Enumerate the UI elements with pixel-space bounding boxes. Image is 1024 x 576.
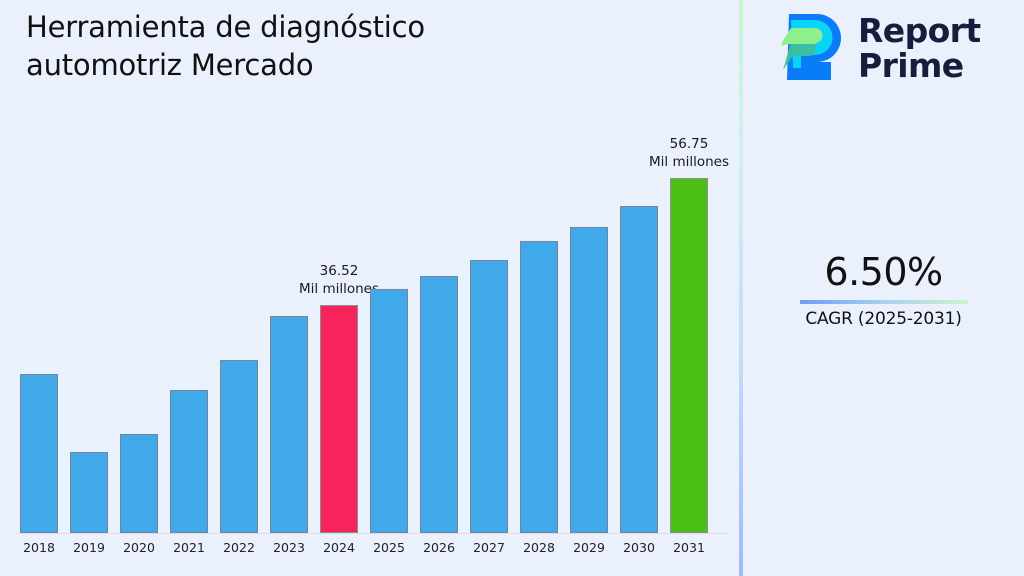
chart-bar-2022[interactable] bbox=[220, 360, 258, 533]
x-axis-label-2027: 2027 bbox=[464, 540, 514, 555]
brand-wordmark: Report Prime bbox=[858, 14, 981, 83]
x-axis-label-2020: 2020 bbox=[114, 540, 164, 555]
bar-slot-2030 bbox=[614, 43, 664, 533]
chart-bar-2029[interactable] bbox=[570, 227, 608, 533]
x-axis-label-2022: 2022 bbox=[214, 540, 264, 555]
chart-bar-2023[interactable] bbox=[270, 316, 308, 533]
report-prime-rp-monogram-icon bbox=[779, 12, 845, 86]
chart-bar-2021[interactable] bbox=[170, 390, 208, 533]
chart-bar-2024[interactable] bbox=[320, 305, 358, 533]
cagr-divider-rule bbox=[800, 300, 968, 304]
chart-bar-2030[interactable] bbox=[620, 206, 658, 533]
chart-bar-2028[interactable] bbox=[520, 241, 558, 533]
bar-slot-2026 bbox=[414, 43, 464, 533]
x-axis-label-2029: 2029 bbox=[564, 540, 614, 555]
bar-slot-2031: 56.75 Mil millones bbox=[664, 43, 714, 533]
x-axis-label-2023: 2023 bbox=[264, 540, 314, 555]
bar-slot-2022 bbox=[214, 43, 264, 533]
chart-axis-baseline bbox=[14, 533, 730, 534]
cagr-block: 6.50% CAGR (2025-2031) bbox=[743, 252, 1024, 329]
chart-bar-2019[interactable] bbox=[70, 452, 108, 533]
chart-bar-2025[interactable] bbox=[370, 289, 408, 533]
x-axis-label-2024: 2024 bbox=[314, 540, 364, 555]
x-axis-label-2025: 2025 bbox=[364, 540, 414, 555]
market-size-bar-chart: 36.52 Mil millones56.75 Mil millones 201… bbox=[0, 0, 740, 576]
cagr-caption: CAGR (2025-2031) bbox=[743, 309, 1024, 329]
bar-slot-2019 bbox=[64, 43, 114, 533]
x-axis-label-2019: 2019 bbox=[64, 540, 114, 555]
chart-bar-2031[interactable] bbox=[670, 178, 708, 533]
x-axis-label-2026: 2026 bbox=[414, 540, 464, 555]
bar-slot-2028 bbox=[514, 43, 564, 533]
chart-bar-2026[interactable] bbox=[420, 276, 458, 533]
brand-logo: Report Prime bbox=[779, 12, 981, 86]
bar-slot-2027 bbox=[464, 43, 514, 533]
x-axis-label-2030: 2030 bbox=[614, 540, 664, 555]
x-axis-label-2021: 2021 bbox=[164, 540, 214, 555]
cagr-value: 6.50% bbox=[743, 252, 1024, 294]
chart-bar-2020[interactable] bbox=[120, 434, 158, 533]
bar-slot-2021 bbox=[164, 43, 214, 533]
bar-slot-2024: 36.52 Mil millones bbox=[314, 43, 364, 533]
x-axis-label-2031: 2031 bbox=[664, 540, 714, 555]
bar-slot-2018 bbox=[14, 43, 64, 533]
chart-bar-2018[interactable] bbox=[20, 374, 58, 533]
bar-value-label-2031: 56.75 Mil millones bbox=[626, 136, 752, 172]
x-axis-label-2028: 2028 bbox=[514, 540, 564, 555]
right-panel: Report Prime 6.50% CAGR (2025-2031) bbox=[743, 0, 1024, 576]
bar-slot-2029 bbox=[564, 43, 614, 533]
chart-bar-2027[interactable] bbox=[470, 260, 508, 533]
x-axis-label-2018: 2018 bbox=[14, 540, 64, 555]
left-panel: Herramienta de diagnóstico automotriz Me… bbox=[0, 0, 740, 576]
bar-slot-2020 bbox=[114, 43, 164, 533]
bar-slot-2025 bbox=[364, 43, 414, 533]
